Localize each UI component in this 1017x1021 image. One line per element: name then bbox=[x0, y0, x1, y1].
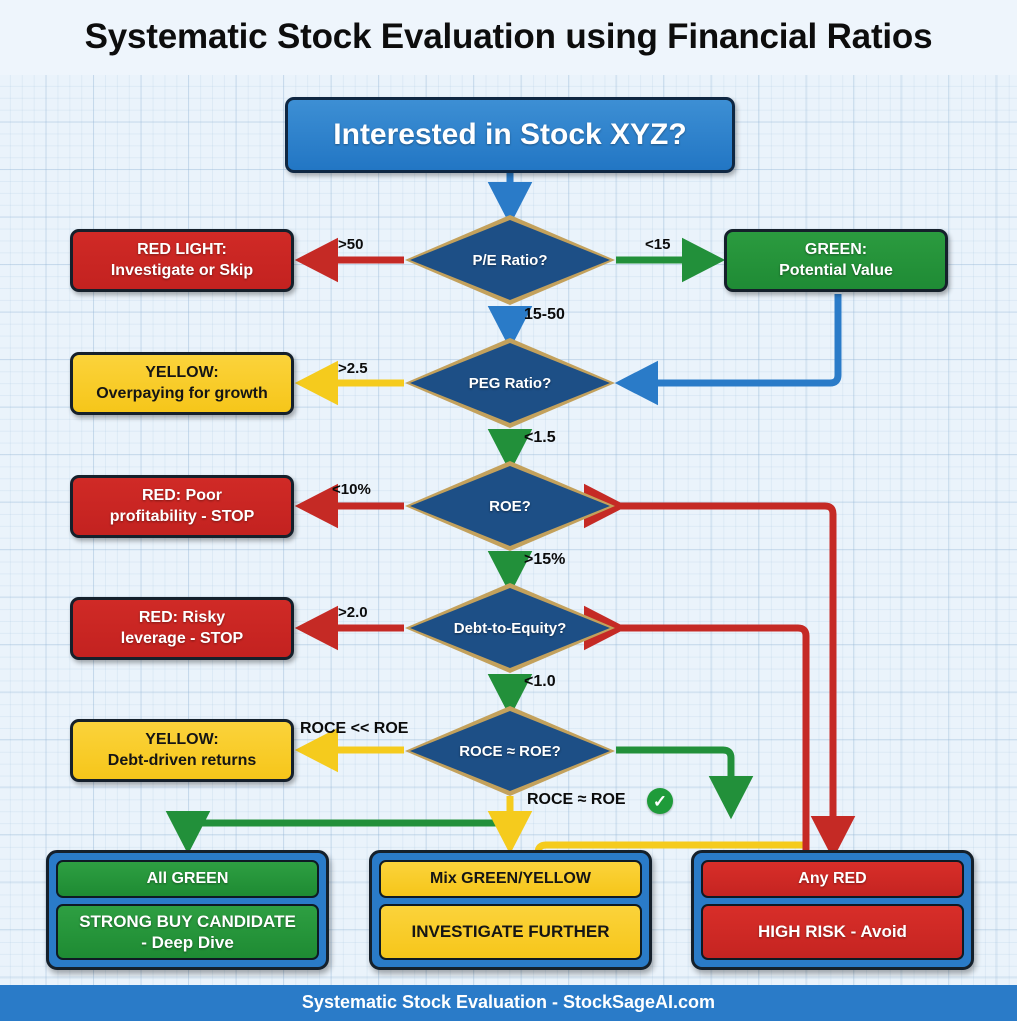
result-all-green-body-line2: - Deep Dive bbox=[141, 932, 234, 953]
decision-peg-ratio-label: PEG Ratio? bbox=[469, 375, 552, 392]
outcome-red-light[interactable]: RED LIGHT: Investigate or Skip bbox=[70, 229, 294, 292]
edge-roce-right-green bbox=[616, 750, 731, 808]
decision-debt-to-equity-label: Debt-to-Equity? bbox=[454, 620, 566, 637]
outcome-yellow-debt-driven[interactable]: YELLOW: Debt-driven returns bbox=[70, 719, 294, 782]
outcome-green-line1: GREEN: bbox=[805, 240, 867, 260]
outcome-red-roe-line2: profitability - STOP bbox=[110, 507, 255, 527]
result-any-red[interactable]: Any RED HIGH RISK - Avoid bbox=[691, 850, 974, 970]
edge-label-pe-low: <15 bbox=[645, 236, 670, 253]
outcome-red-risky-leverage[interactable]: RED: Risky leverage - STOP bbox=[70, 597, 294, 660]
result-mix-body-line1: INVESTIGATE FURTHER bbox=[411, 921, 609, 942]
outcome-green-potential-value[interactable]: GREEN: Potential Value bbox=[724, 229, 948, 292]
outcome-red-de-line1: RED: Risky bbox=[139, 608, 225, 628]
outcome-yellow-peg-line1: YELLOW: bbox=[145, 363, 218, 383]
result-any-red-body-line1: HIGH RISK - Avoid bbox=[758, 921, 907, 942]
result-all-green-head: All GREEN bbox=[56, 860, 319, 898]
outcome-red-poor-profitability[interactable]: RED: Poor profitability - STOP bbox=[70, 475, 294, 538]
outcome-green-line2: Potential Value bbox=[779, 261, 893, 281]
edge-label-de-low: <1.0 bbox=[524, 673, 556, 691]
decision-roce-vs-roe-label: ROCE ≈ ROE? bbox=[459, 743, 561, 760]
result-mix-head: Mix GREEN/YELLOW bbox=[379, 860, 642, 898]
edge-green-to-peg bbox=[626, 294, 838, 383]
result-mix-body: INVESTIGATE FURTHER bbox=[379, 904, 642, 960]
result-any-red-body: HIGH RISK - Avoid bbox=[701, 904, 964, 960]
start-node-label: Interested in Stock XYZ? bbox=[333, 118, 686, 152]
edge-label-roce-low: ROCE << ROE bbox=[300, 720, 408, 738]
start-node[interactable]: Interested in Stock XYZ? bbox=[285, 97, 735, 173]
result-all-green[interactable]: All GREEN STRONG BUY CANDIDATE - Deep Di… bbox=[46, 850, 329, 970]
outcome-yellow-overpaying[interactable]: YELLOW: Overpaying for growth bbox=[70, 352, 294, 415]
page-title: Systematic Stock Evaluation using Financ… bbox=[0, 17, 1017, 57]
edge-label-pe-mid: 15-50 bbox=[524, 306, 565, 324]
decision-roe-label: ROE? bbox=[489, 498, 531, 515]
result-all-green-body-line1: STRONG BUY CANDIDATE bbox=[79, 911, 296, 932]
edge-label-peg-high: >2.5 bbox=[338, 360, 368, 377]
edge-label-pe-high: >50 bbox=[338, 236, 363, 253]
edge-label-roce-ok: ROCE ≈ ROE bbox=[527, 791, 626, 809]
footer-text: Systematic Stock Evaluation - StockSageA… bbox=[0, 992, 1017, 1013]
edge-label-roe-low: <10% bbox=[332, 481, 371, 498]
edge-redrail-de bbox=[616, 628, 806, 862]
result-any-red-head: Any RED bbox=[701, 860, 964, 898]
outcome-yellow-roce-line1: YELLOW: bbox=[145, 730, 218, 750]
outcome-yellow-peg-line2: Overpaying for growth bbox=[96, 384, 268, 404]
check-circle-icon: ✓ bbox=[647, 788, 673, 814]
decision-pe-ratio-label: P/E Ratio? bbox=[472, 252, 547, 269]
outcome-yellow-roce-line2: Debt-driven returns bbox=[108, 751, 256, 771]
outcome-red-de-line2: leverage - STOP bbox=[121, 629, 243, 649]
edge-roce-to-allgreen bbox=[188, 796, 510, 843]
outcome-red-light-line1: RED LIGHT: bbox=[137, 240, 227, 260]
result-mix-green-yellow[interactable]: Mix GREEN/YELLOW INVESTIGATE FURTHER bbox=[369, 850, 652, 970]
result-all-green-body: STRONG BUY CANDIDATE - Deep Dive bbox=[56, 904, 319, 960]
outcome-red-light-line2: Investigate or Skip bbox=[111, 261, 253, 281]
outcome-red-roe-line1: RED: Poor bbox=[142, 486, 222, 506]
flowchart-canvas: Systematic Stock Evaluation using Financ… bbox=[0, 0, 1017, 1021]
edge-label-roe-high: >15% bbox=[524, 551, 565, 569]
edge-label-de-high: >2.0 bbox=[338, 604, 368, 621]
edge-label-peg-low: <1.5 bbox=[524, 429, 556, 447]
